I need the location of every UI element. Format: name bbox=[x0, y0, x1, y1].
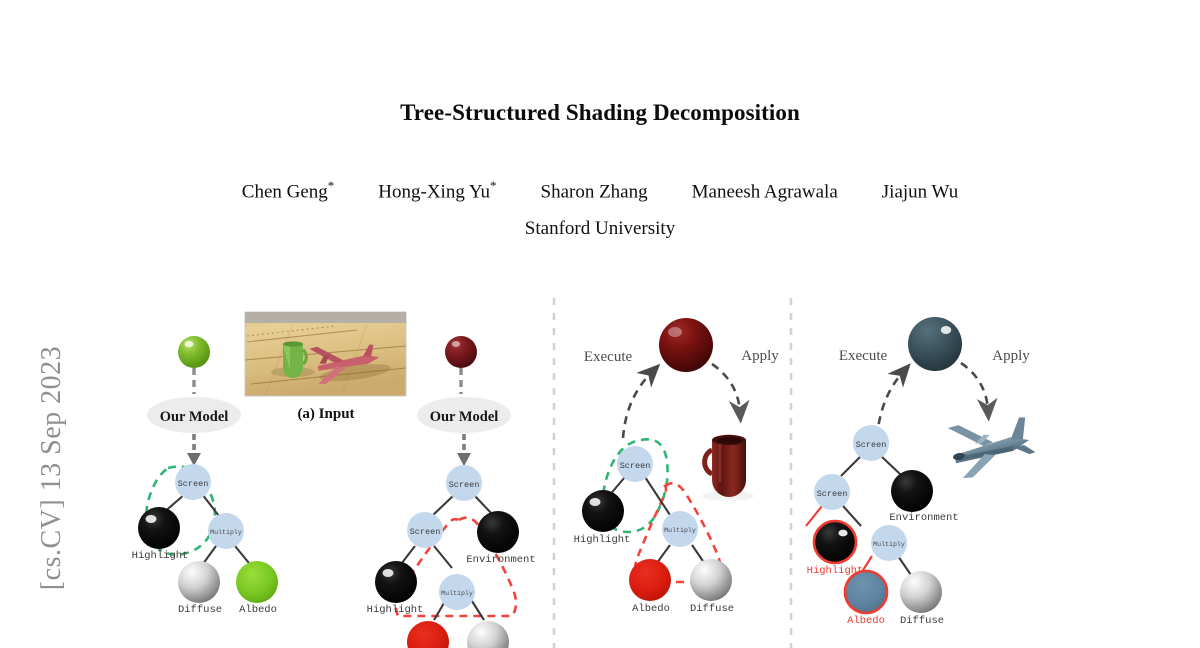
node-label: Screen bbox=[449, 480, 480, 490]
affiliation: Stanford University bbox=[0, 218, 1200, 240]
tree3-node-diffuse[interactable]: Diffuse bbox=[690, 559, 734, 615]
node-label: Albedo bbox=[847, 615, 885, 627]
panel4-applied-airplane bbox=[948, 413, 1038, 480]
node-label: Highlight bbox=[367, 604, 424, 616]
author-0: Chen Geng* bbox=[242, 178, 335, 203]
tree3-node-multiply[interactable]: Multiply bbox=[662, 511, 698, 547]
node-label: Diffuse bbox=[178, 604, 222, 616]
our-model-pill-1: Our Model bbox=[147, 397, 241, 466]
node-label: Screen bbox=[817, 489, 848, 499]
node-label: Diffuse bbox=[690, 603, 734, 615]
paper-page: [cs.CV] 13 Sep 2023 Tree-Structured Shad… bbox=[0, 0, 1200, 648]
author-name: Chen Geng bbox=[242, 181, 328, 202]
panel4-apply-arrow bbox=[961, 363, 988, 410]
node-label: Screen bbox=[620, 461, 651, 471]
node-label: Highlight bbox=[132, 550, 189, 562]
author-name: Maneesh Agrawala bbox=[692, 181, 838, 202]
panel3-execute-label: Execute bbox=[584, 349, 633, 365]
panel4-execute-label: Execute bbox=[839, 348, 888, 364]
tree2-node-multiply[interactable]: Multiply bbox=[439, 574, 475, 610]
tree1-node-highlight[interactable]: Highlight bbox=[132, 507, 189, 562]
input-image: (a) Input bbox=[245, 312, 406, 422]
panel3-execute-arrow bbox=[623, 372, 652, 438]
node-label: Diffuse bbox=[900, 615, 944, 627]
panel3-result-sphere bbox=[659, 318, 713, 372]
panel3-apply-arrow bbox=[712, 364, 740, 412]
node-label: Multiply bbox=[664, 527, 696, 534]
tree2-node-screen-child[interactable]: Screen bbox=[407, 512, 443, 548]
panel3-applied-mug bbox=[702, 435, 754, 501]
tree2-node-screen-root[interactable]: Screen bbox=[446, 465, 482, 501]
panel2-query-sphere bbox=[445, 336, 477, 394]
author-list: Chen Geng*Hong-Xing Yu*Sharon ZhangManee… bbox=[0, 178, 1200, 203]
tree2-node-diffuse-clipped[interactable] bbox=[467, 621, 509, 648]
our-model-label: Our Model bbox=[430, 409, 499, 425]
author-2: Sharon Zhang bbox=[541, 178, 648, 203]
node-label: Environment bbox=[889, 512, 958, 524]
node-label: Screen bbox=[410, 527, 441, 537]
node-label: Highlight bbox=[574, 534, 631, 546]
tree4-node-multiply[interactable]: Multiply bbox=[871, 525, 907, 561]
node-label: Screen bbox=[178, 479, 209, 489]
tree1-node-albedo[interactable]: Albedo bbox=[236, 561, 278, 616]
tree1-node-multiply[interactable]: Multiply bbox=[208, 513, 244, 549]
node-label: Multiply bbox=[210, 529, 242, 536]
tree4-node-highlight[interactable]: Highlight bbox=[807, 521, 864, 577]
our-model-pill-2: Our Model bbox=[417, 397, 511, 466]
node-label: Environment bbox=[466, 554, 535, 566]
node-label: Albedo bbox=[239, 604, 277, 616]
node-label: Screen bbox=[856, 440, 887, 450]
page-title: Tree-Structured Shading Decomposition bbox=[0, 100, 1200, 126]
tree3-node-screen[interactable]: Screen bbox=[617, 446, 653, 482]
tree3-node-highlight[interactable]: Highlight bbox=[574, 490, 631, 546]
author-4: Jiajun Wu bbox=[882, 178, 958, 203]
tree2-node-highlight[interactable]: Highlight bbox=[367, 561, 424, 616]
tree2-node-albedo-clipped[interactable] bbox=[407, 621, 449, 648]
author-affil-marker: * bbox=[328, 178, 335, 193]
node-label: Multiply bbox=[873, 541, 905, 548]
panel4-apply-label: Apply bbox=[992, 348, 1030, 364]
panel4-result-sphere bbox=[908, 317, 962, 371]
tree2-node-environment[interactable]: Environment bbox=[466, 511, 535, 566]
tree4-node-screen-root[interactable]: Screen bbox=[853, 425, 889, 461]
tree3-node-albedo[interactable]: Albedo bbox=[629, 559, 671, 615]
node-label: Multiply bbox=[441, 590, 473, 597]
tree4-node-diffuse[interactable]: Diffuse bbox=[900, 571, 944, 627]
our-model-label: Our Model bbox=[160, 409, 229, 425]
node-label: Albedo bbox=[632, 603, 670, 615]
author-name: Sharon Zhang bbox=[541, 181, 648, 202]
tree4-node-albedo[interactable]: Albedo bbox=[845, 571, 887, 627]
author-name: Jiajun Wu bbox=[882, 181, 958, 202]
author-name: Hong-Xing Yu bbox=[378, 181, 490, 202]
tree4-node-environment[interactable]: Environment bbox=[889, 470, 958, 524]
tree1-node-diffuse[interactable]: Diffuse bbox=[178, 561, 222, 616]
tree1-node-screen[interactable]: Screen bbox=[175, 464, 211, 500]
panel3-apply-label: Apply bbox=[741, 348, 779, 364]
author-3: Maneesh Agrawala bbox=[692, 178, 838, 203]
tree4-node-screen-child[interactable]: Screen bbox=[814, 474, 850, 510]
author-1: Hong-Xing Yu* bbox=[378, 178, 496, 203]
author-affil-marker: * bbox=[490, 178, 497, 193]
input-caption: (a) Input bbox=[297, 406, 354, 422]
teaser-figure: (a) Input Our Model Screen Multiply bbox=[0, 290, 1200, 648]
